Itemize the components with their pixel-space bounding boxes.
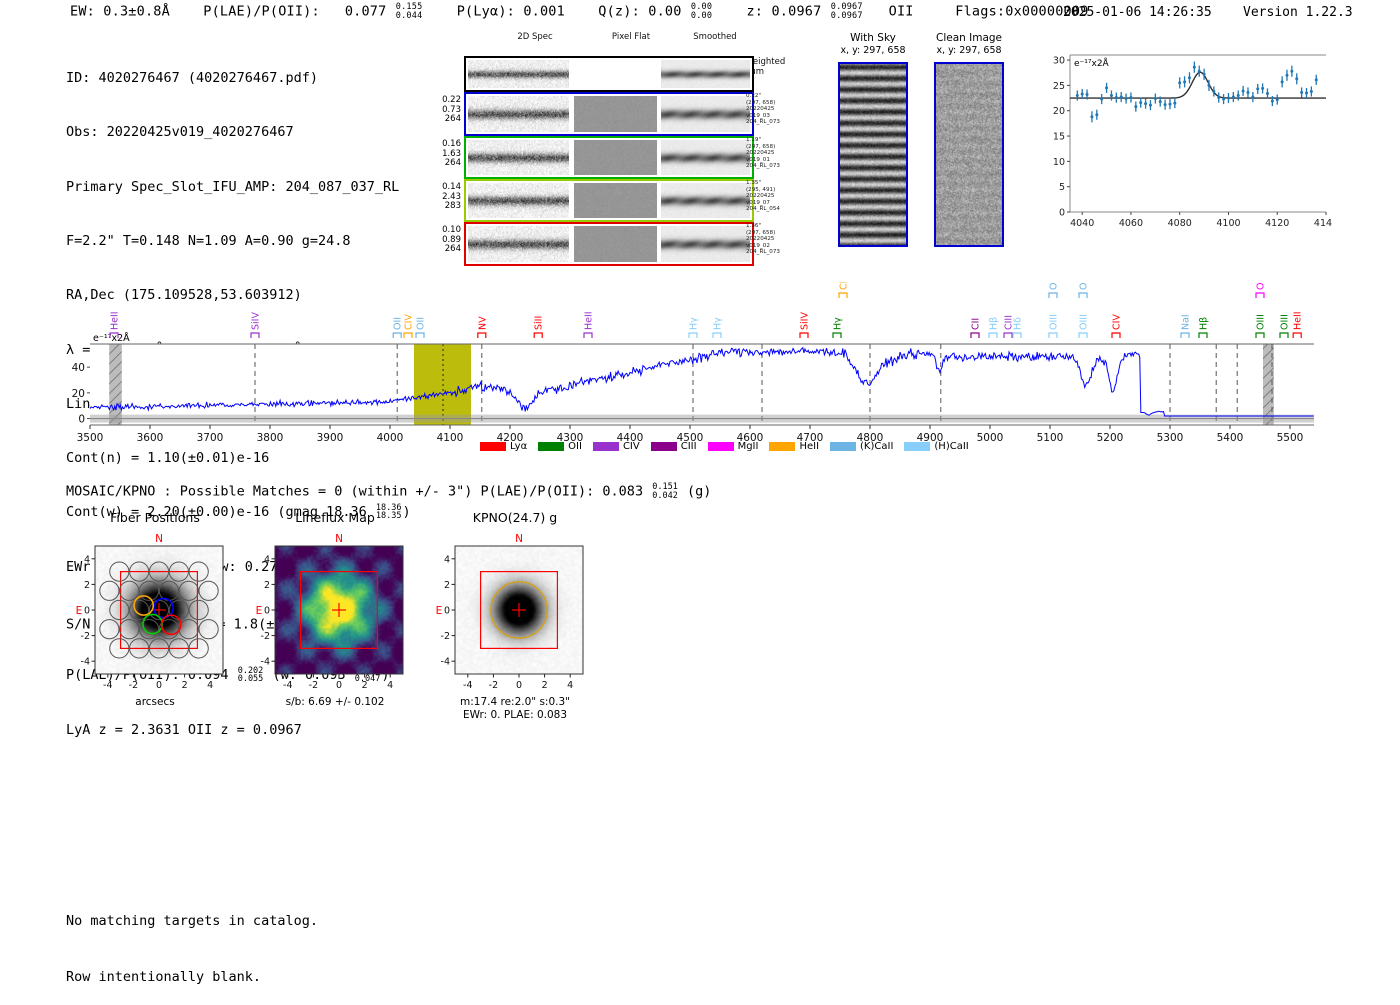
svg-text:4140: 4140	[1314, 218, 1332, 229]
spec2d-segment	[661, 96, 750, 132]
legend-item: (H)CaII	[904, 441, 968, 452]
svg-text:5100: 5100	[1037, 432, 1064, 444]
svg-text:2: 2	[84, 580, 90, 591]
legend-swatch	[830, 442, 856, 451]
cutout-panel-caption: m:17.4 re:2.0" s:0.3"EWr: 0. PLAE: 0.083	[425, 696, 605, 722]
spec2d-row-stats: 0.161.63264	[437, 140, 461, 169]
svg-text:0: 0	[156, 680, 162, 691]
svg-text:2: 2	[542, 680, 548, 691]
clean-image-coords: x, y: 297, 658	[914, 45, 1024, 56]
spectrum-line-label: OIII	[1280, 314, 1291, 330]
header-datetime: 2025-01-06 14:26:35	[1063, 5, 1212, 20]
spectrum-line-label: Hγ	[833, 317, 844, 330]
svg-text:40: 40	[72, 362, 85, 374]
footer-note: No matching targets in catalog. Row inte…	[66, 875, 318, 1005]
cutout-panel: Fiber Positions-4-4-2-2002244NEarcsecs	[65, 510, 245, 725]
legend-swatch	[593, 442, 619, 451]
svg-text:10: 10	[1053, 157, 1065, 168]
spec2d-segment	[574, 226, 657, 262]
svg-text:-2: -2	[441, 631, 450, 642]
header-timestamp-block: 2025-01-06 14:26:35 Version 1.22.3	[1063, 5, 1353, 20]
svg-text:3600: 3600	[137, 432, 164, 444]
spectrum-line-label: CIV	[1112, 314, 1123, 330]
svg-text:-4: -4	[261, 657, 270, 668]
spectrum-line-label: HeII	[110, 311, 121, 330]
compass-north: N	[155, 533, 163, 545]
svg-text:4: 4	[567, 680, 573, 691]
info-seeing: F=2.2" T=0.148 N=1.09 A=0.90 g=24.8	[66, 232, 411, 250]
spectrum-line-label: CII	[971, 318, 982, 330]
legend-swatch	[651, 442, 677, 451]
svg-text:-4: -4	[463, 680, 472, 691]
svg-text:-2: -2	[81, 631, 90, 642]
spectrum-line-label: HeII	[584, 311, 595, 330]
spec2d-row-meta: 1.35"(295, 491)20220425v019_07204_RL_054	[746, 180, 780, 213]
header-z-range: 0.09670.0967	[831, 3, 863, 20]
spectrum-line-label: SiIV	[800, 312, 811, 330]
spec2d-row[interactable]	[464, 92, 754, 136]
emission-line-fit-plot[interactable]: 051015202530404040604080410041204140e⁻¹⁷…	[1032, 45, 1332, 240]
svg-text:4060: 4060	[1119, 218, 1143, 229]
header-plae-value: 0.077	[345, 4, 387, 20]
spec2d-segment	[661, 140, 750, 175]
svg-text:4: 4	[444, 554, 450, 565]
spectrum-line-label: OII	[393, 317, 404, 330]
svg-text:20: 20	[72, 388, 85, 400]
svg-text:-2: -2	[309, 680, 318, 691]
svg-text:0: 0	[78, 414, 85, 426]
spectrum-line-label: SiIV	[251, 312, 262, 330]
spec2d-segment	[574, 60, 657, 88]
spec2d-segment	[468, 226, 569, 262]
legend-label: Lyα	[510, 441, 527, 452]
spectrum-line-label: NaI	[1181, 314, 1192, 330]
cutout-panel-caption: arcsecs	[65, 696, 245, 709]
spectrum-line-label: Hγ	[713, 317, 724, 330]
spec2d-row-meta: 1.19"(297, 658)20220425v019_01204_RL_073	[746, 137, 780, 170]
svg-text:4120: 4120	[1265, 218, 1289, 229]
header-summary-line: EW: 0.3±0.8Å P(LAE)/P(OII): 0.077 0.1550…	[70, 3, 1089, 20]
header-plae-range: 0.1550.044	[396, 3, 423, 20]
spectrum-line-label: NV	[477, 316, 488, 330]
svg-text:2: 2	[264, 580, 270, 591]
spec2d-row-meta: 1.36"(297, 658)20220425v019_02204_RL_073	[746, 223, 780, 256]
spec2d-row-stats: 0.220.73264	[437, 96, 461, 125]
spec2d-segment	[574, 96, 657, 132]
with-sky-title: With Sky	[818, 32, 928, 44]
cutout-panel: KPNO(24.7) g-4-4-2-2002244NEm:17.4 re:2.…	[425, 510, 605, 725]
svg-text:25: 25	[1053, 81, 1065, 92]
svg-text:0: 0	[264, 606, 270, 617]
svg-text:-4: -4	[283, 680, 292, 691]
cutout-panel: Lineflux Map-4-4-2-2002244NEs/b: 6.69 +/…	[245, 510, 425, 725]
spec2d-row[interactable]	[464, 222, 754, 266]
svg-text:2: 2	[362, 680, 368, 691]
legend-swatch	[480, 442, 506, 451]
sky-images-block: With Sky x, y: 297, 658 Clean Image x, y…	[818, 32, 1018, 247]
svg-text:0: 0	[516, 680, 522, 691]
spec2d-segment	[468, 183, 569, 218]
info-obs: Obs: 20220425v019_4020276467	[66, 123, 411, 141]
legend-item: Lyα	[480, 441, 527, 452]
svg-text:-4: -4	[441, 657, 450, 668]
svg-text:3900: 3900	[317, 432, 344, 444]
svg-text:3700: 3700	[197, 432, 224, 444]
spectrum-line-label: CIV	[404, 314, 415, 330]
info-primary-spec: Primary Spec_Slot_IFU_AMP: 204_087_037_R…	[66, 178, 411, 196]
spec2d-segment	[574, 140, 657, 175]
svg-text:0: 0	[444, 606, 450, 617]
header-ew: EW: 0.3±0.8Å	[70, 4, 170, 20]
svg-text:5: 5	[1059, 182, 1065, 193]
svg-text:3500: 3500	[77, 432, 104, 444]
clean-image-title: Clean Image	[914, 32, 1024, 44]
legend-item: (K)CaII	[830, 441, 893, 452]
svg-text:15: 15	[1053, 132, 1065, 143]
cutout-panel-title: Fiber Positions	[65, 510, 245, 525]
spectrum-line-label: Hγ	[689, 317, 700, 330]
spectrum-line-label: OIII	[1049, 314, 1060, 330]
with-sky-image[interactable]	[838, 62, 908, 247]
spec2d-segment	[574, 183, 657, 218]
legend-swatch	[769, 442, 795, 451]
mosaic-kpno-header: MOSAIC/KPNO : Possible Matches = 0 (with…	[66, 483, 711, 500]
svg-text:3800: 3800	[257, 432, 284, 444]
spectrum-line-label: Hβ	[989, 317, 1000, 330]
header-z-type: OII	[889, 4, 914, 20]
header-z: z: 0.0967	[746, 4, 821, 20]
legend-item: HeII	[769, 441, 819, 452]
legend-label: CIII	[681, 441, 697, 452]
header-plae-label: P(LAE)/P(OII):	[203, 4, 320, 20]
col-header-smoothed: Smoothed	[670, 32, 760, 42]
svg-text:-4: -4	[103, 680, 112, 691]
cutout-panels-row: Fiber Positions-4-4-2-2002244NEarcsecsLi…	[55, 510, 655, 730]
svg-text:4: 4	[207, 680, 213, 691]
svg-text:2: 2	[182, 680, 188, 691]
legend-item: OII	[538, 441, 582, 452]
svg-text:30: 30	[1053, 56, 1065, 67]
spectrum-line-label: OIII	[1079, 282, 1090, 290]
spectrum-line-label: OIII	[1049, 282, 1060, 290]
svg-text:4080: 4080	[1168, 218, 1192, 229]
legend-label: HeII	[799, 441, 819, 452]
col-header-2d-spec: 2D Spec	[490, 32, 580, 42]
compass-north: N	[335, 533, 343, 545]
svg-text:-4: -4	[81, 657, 90, 668]
fit-units-label: e⁻¹⁷x2Å	[1074, 57, 1110, 69]
legend-item: MgII	[708, 441, 759, 452]
spec2d-segment	[468, 60, 569, 88]
svg-text:4: 4	[387, 680, 393, 691]
cutout-panel-title: KPNO(24.7) g	[425, 510, 605, 525]
svg-text:4040: 4040	[1070, 218, 1094, 229]
full-spectrum-plot[interactable]: 0204035003600370038003900400041004200430…	[62, 282, 1320, 467]
svg-text:5200: 5200	[1097, 432, 1124, 444]
svg-text:-2: -2	[489, 680, 498, 691]
svg-text:-2: -2	[261, 631, 270, 642]
spectrum-line-label: OII	[416, 317, 427, 330]
svg-text:0: 0	[1059, 208, 1065, 219]
spec2d-segment	[468, 96, 569, 132]
compass-east: E	[76, 605, 83, 617]
spec2d-row[interactable]	[464, 136, 754, 179]
footer-line-1: No matching targets in catalog.	[66, 912, 318, 931]
cutout-panel-title: Lineflux Map	[245, 510, 425, 525]
info-id: ID: 4020276467 (4020276467.pdf)	[66, 69, 411, 87]
svg-text:5000: 5000	[977, 432, 1004, 444]
header-plya: P(Lyα): 0.001	[457, 4, 565, 20]
legend-item: CIV	[593, 441, 640, 452]
svg-text:4000: 4000	[377, 432, 404, 444]
svg-text:20: 20	[1053, 106, 1065, 117]
spectrum-legend: LyαOIICIVCIIIMgIIHeII(K)CaII(H)CaII	[480, 441, 969, 452]
spec2d-segment	[661, 60, 750, 88]
svg-text:-2: -2	[129, 680, 138, 691]
footer-line-2: Row intentionally blank.	[66, 968, 318, 987]
spectrum-line-label: OII	[1256, 282, 1267, 290]
spectrum-units-label: e⁻¹⁷x2Å	[93, 332, 130, 344]
spec2d-row-weighted-sum[interactable]	[464, 56, 754, 92]
svg-text:4100: 4100	[1216, 218, 1240, 229]
svg-text:4: 4	[84, 554, 90, 565]
legend-label: MgII	[738, 441, 759, 452]
spectrum-line-label: OIII	[1256, 314, 1267, 330]
svg-text:4: 4	[264, 554, 270, 565]
header-version: Version 1.22.3	[1243, 5, 1353, 20]
spec2d-segment	[661, 226, 750, 262]
svg-text:4100: 4100	[437, 432, 464, 444]
clean-image[interactable]	[934, 62, 1004, 247]
legend-item: CIII	[651, 441, 697, 452]
spec2d-row-stats: 0.100.89264	[437, 226, 461, 255]
legend-label: CIV	[623, 441, 640, 452]
spec2d-segment	[468, 140, 569, 175]
legend-swatch	[904, 442, 930, 451]
svg-text:0: 0	[336, 680, 342, 691]
legend-swatch	[538, 442, 564, 451]
spectrum-line-label: HeII	[1293, 311, 1304, 330]
compass-north: N	[515, 533, 523, 545]
highlight-band	[414, 344, 471, 425]
two-d-spectra-block: 2D Spec Pixel Flat Smoothed Weighted Sum…	[438, 32, 778, 247]
with-sky-coords: x, y: 297, 658	[818, 45, 928, 56]
col-header-pixel-flat: Pixel Flat	[586, 32, 676, 42]
legend-label: (K)CaII	[860, 441, 893, 452]
legend-label: (H)CaII	[934, 441, 968, 452]
spectrum-line-label: OIII	[1079, 314, 1090, 330]
svg-text:2: 2	[444, 580, 450, 591]
spec2d-row[interactable]	[464, 179, 754, 222]
spectrum-line-label: Hβ	[1199, 317, 1210, 330]
spec2d-row-meta: 0.22"(297, 658)20220425v019_03204_RL_073	[746, 93, 780, 126]
svg-text:5300: 5300	[1157, 432, 1184, 444]
mosaic-plae-range: 0.1510.042	[652, 483, 678, 500]
cutout-panel-caption: s/b: 6.69 +/- 0.102	[245, 696, 425, 709]
spec2d-row-stats: 0.142.43283	[437, 183, 461, 212]
spectrum-line-label: CIII	[839, 282, 850, 290]
spectrum-line-label: SiII	[534, 316, 545, 330]
svg-text:0: 0	[84, 606, 90, 617]
compass-east: E	[256, 605, 263, 617]
header-qz-range: 0.000.00	[691, 3, 712, 20]
spec2d-segment	[661, 183, 750, 218]
header-qz: Q(z): 0.00	[598, 4, 681, 20]
compass-east: E	[436, 605, 443, 617]
svg-text:5400: 5400	[1217, 432, 1244, 444]
legend-swatch	[708, 442, 734, 451]
svg-text:5500: 5500	[1277, 432, 1304, 444]
spectrum-line-label: Hδ	[1013, 317, 1024, 330]
legend-label: OII	[568, 441, 582, 452]
